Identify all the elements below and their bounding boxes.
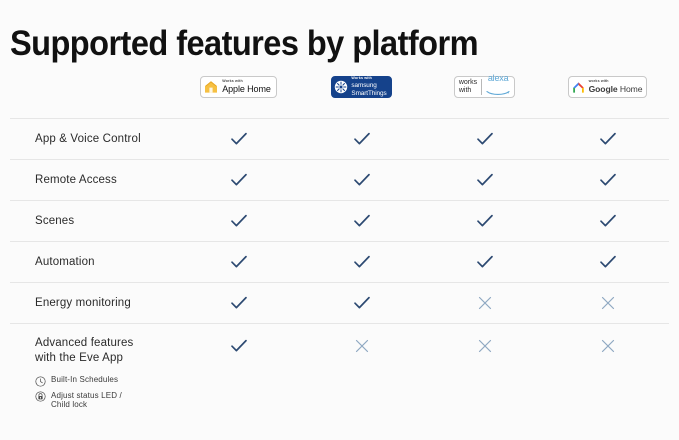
row-label-advanced-features-line2: with the Eve App	[35, 351, 177, 366]
list-item-label: Built-In Schedules	[51, 375, 118, 385]
badge-alexa-name: alexa	[488, 74, 509, 83]
cell-app-voice-control-google-home	[546, 132, 669, 147]
badge-alexa-works-line1: works	[459, 79, 477, 87]
cell-remote-access-google-home	[546, 173, 669, 188]
cell-remote-access-apple-home	[177, 173, 300, 188]
badge-apple-home[interactable]: Works with Apple Home	[200, 76, 277, 98]
list-item-label-line2: Child lock	[51, 400, 122, 410]
header-cell-smartthings: Works with samsung SmartThings	[300, 76, 423, 98]
cell-energy-monitoring-google-home	[546, 295, 669, 311]
cell-energy-monitoring-apple-home	[177, 296, 300, 311]
cell-scenes-apple-home	[177, 214, 300, 229]
google-home-house-icon	[572, 81, 585, 94]
cell-app-voice-control-smartthings	[300, 132, 423, 147]
table-row: Energy monitoring	[10, 282, 669, 323]
apple-home-house-icon	[204, 80, 218, 94]
supported-features-table: Works with Apple Home	[0, 56, 679, 412]
list-item-label-line1: Adjust status LED /	[51, 391, 122, 401]
table-row: Scenes	[10, 200, 669, 241]
badge-google-home-name: Google Home	[589, 85, 643, 94]
cell-remote-access-alexa	[423, 173, 546, 188]
cell-app-voice-control-apple-home	[177, 132, 300, 147]
cell-advanced-features-google-home	[546, 324, 669, 368]
cell-energy-monitoring-alexa	[423, 295, 546, 311]
row-label-automation: Automation	[10, 256, 177, 268]
row-label-app-voice-control: App & Voice Control	[10, 133, 177, 145]
cell-automation-google-home	[546, 255, 669, 270]
badge-alexa-works-line2: with	[459, 87, 477, 95]
cell-energy-monitoring-smartthings	[300, 296, 423, 311]
badge-smartthings-name-line1: samsung	[351, 82, 386, 89]
badge-apple-home-name: Apple Home	[222, 85, 271, 94]
cell-app-voice-control-alexa	[423, 132, 546, 147]
cell-scenes-alexa	[423, 214, 546, 229]
row-label-remote-access: Remote Access	[10, 174, 177, 186]
header-cell-alexa: works with alexa	[423, 76, 546, 98]
cell-scenes-smartthings	[300, 214, 423, 229]
row-label-advanced-features: Advanced features with the Eve App Built…	[10, 324, 177, 414]
header-cell-apple-home: Works with Apple Home	[177, 76, 300, 98]
badge-smartthings-text: Works with samsung SmartThings	[351, 77, 386, 97]
row-label-advanced-features-line1: Advanced features	[35, 336, 177, 351]
badge-google-home-name-bold: Google	[589, 84, 618, 94]
badge-works-with-alexa[interactable]: works with alexa	[454, 76, 515, 98]
table-row: Remote Access	[10, 159, 669, 200]
row-label-energy-monitoring: Energy monitoring	[10, 297, 177, 309]
table-header-row: Works with Apple Home	[10, 56, 669, 118]
cell-advanced-features-smartthings	[300, 324, 423, 368]
badge-apple-home-kicker: Works with	[222, 80, 271, 84]
lock-icon	[35, 391, 46, 402]
badge-apple-home-text: Works with Apple Home	[222, 80, 271, 94]
badge-google-home-name-light: Home	[620, 84, 643, 94]
list-item-label: Adjust status LED / Child lock	[51, 391, 122, 410]
badge-smartthings-kicker: Works with	[351, 77, 386, 81]
row-label-scenes: Scenes	[10, 215, 177, 227]
list-item: Built-In Schedules	[35, 375, 177, 387]
badge-google-home-text: works with Google Home	[589, 80, 643, 94]
badge-alexa-logo: alexa	[482, 74, 510, 101]
badge-alexa-works-with: works with	[459, 79, 482, 95]
cell-automation-alexa	[423, 255, 546, 270]
list-item: Adjust status LED / Child lock	[35, 391, 177, 410]
cell-automation-smartthings	[300, 255, 423, 270]
badge-google-home-kicker: works with	[589, 80, 643, 84]
cell-remote-access-smartthings	[300, 173, 423, 188]
table-row: Advanced features with the Eve App Built…	[10, 323, 669, 412]
cell-scenes-google-home	[546, 214, 669, 229]
cell-advanced-features-apple-home	[177, 324, 300, 368]
header-cell-google-home: works with Google Home	[546, 76, 669, 98]
badge-google-home[interactable]: works with Google Home	[568, 76, 648, 98]
amazon-smile-icon	[486, 83, 510, 101]
cell-automation-apple-home	[177, 255, 300, 270]
clock-icon	[35, 376, 46, 387]
table-row: App & Voice Control	[10, 118, 669, 159]
badge-samsung-smartthings[interactable]: Works with samsung SmartThings	[331, 76, 391, 98]
eve-app-feature-list: Built-In Schedules Adjust status LED	[35, 375, 177, 410]
smartthings-flower-icon	[334, 80, 348, 94]
badge-smartthings-name-line2: SmartThings	[351, 90, 386, 97]
table-row: Automation	[10, 241, 669, 282]
cell-advanced-features-alexa	[423, 324, 546, 368]
